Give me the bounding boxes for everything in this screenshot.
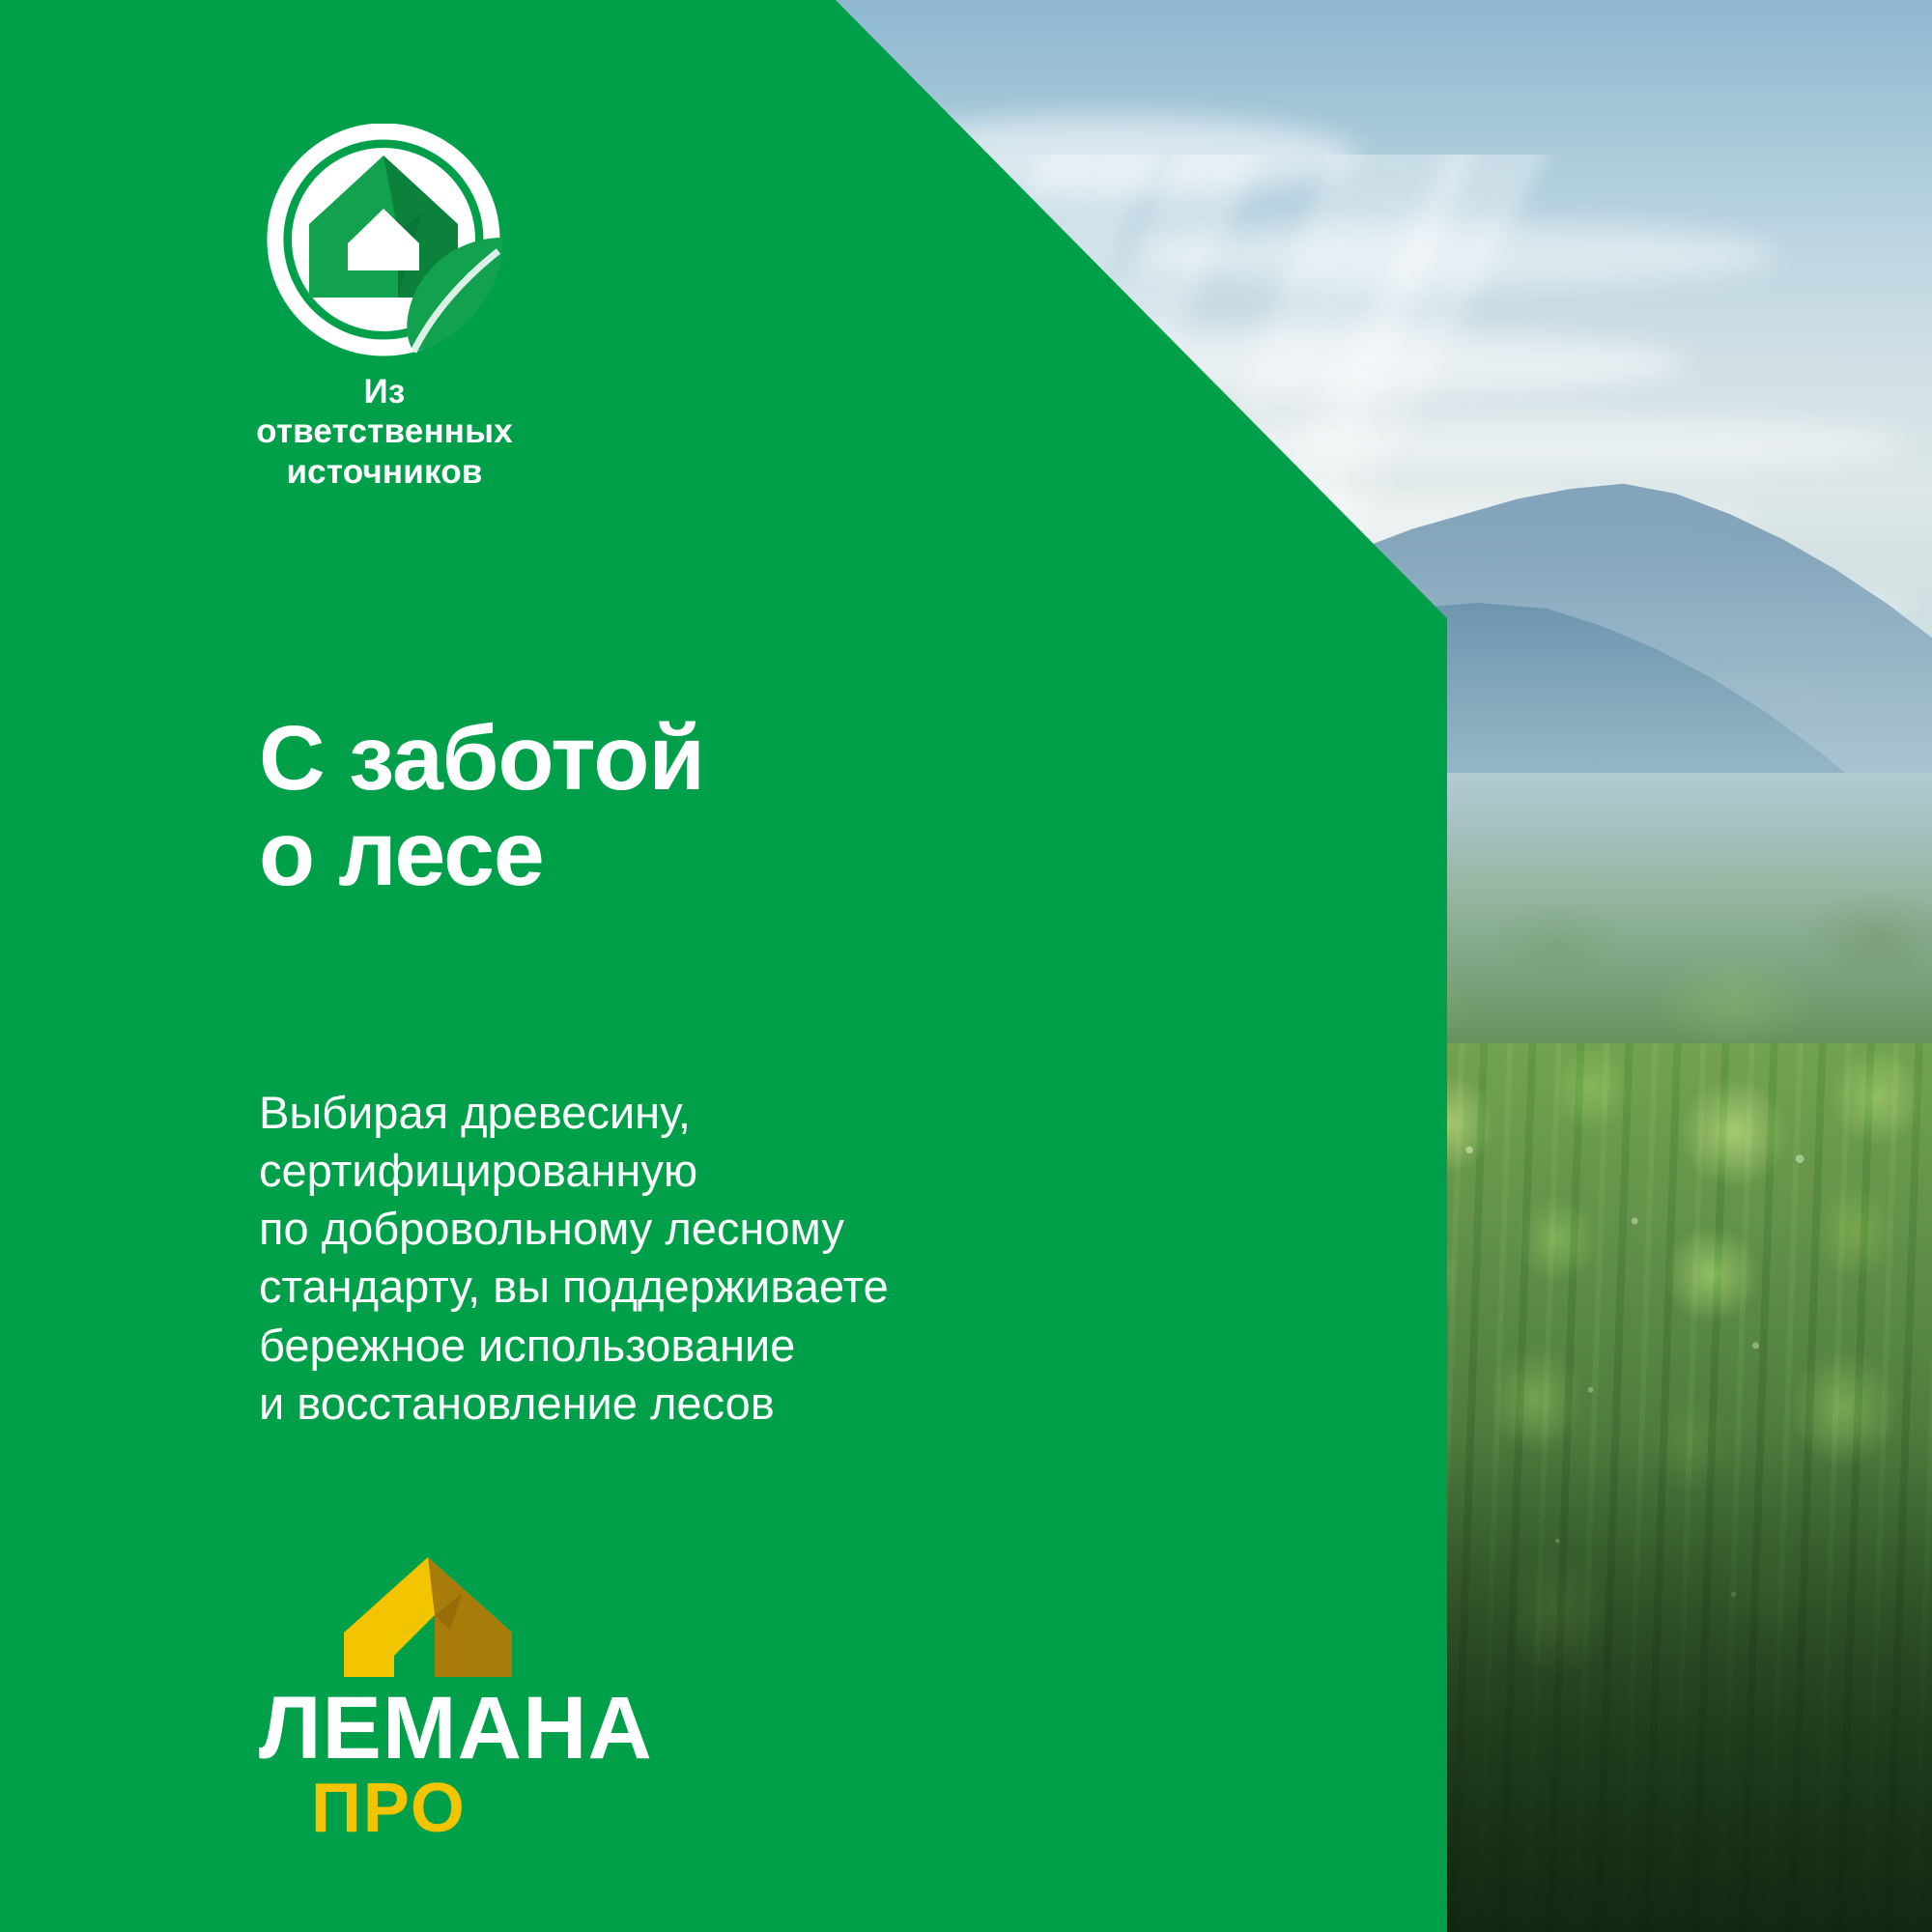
brand-name: ЛЕМАНА — [259, 1685, 645, 1772]
promo-poster: Из ответственных источников С заботой о … — [0, 0, 1932, 1932]
brand-sub: ПРО — [311, 1774, 645, 1843]
eco-house-leaf-circle-icon — [253, 124, 514, 360]
lemana-house-icon — [342, 1555, 514, 1679]
eco-certification-badge: Из ответственных источников — [253, 124, 543, 433]
eco-badge-caption: Из ответственных источников — [240, 372, 529, 492]
lemana-pro-logo: ЛЕМАНА ПРО — [259, 1555, 645, 1843]
poster-content: Из ответственных источников С заботой о … — [0, 0, 1449, 1932]
page-title: С заботой о лесе — [259, 711, 704, 904]
body-paragraph: Выбирая древесину, сертифицированную по … — [259, 1084, 889, 1433]
